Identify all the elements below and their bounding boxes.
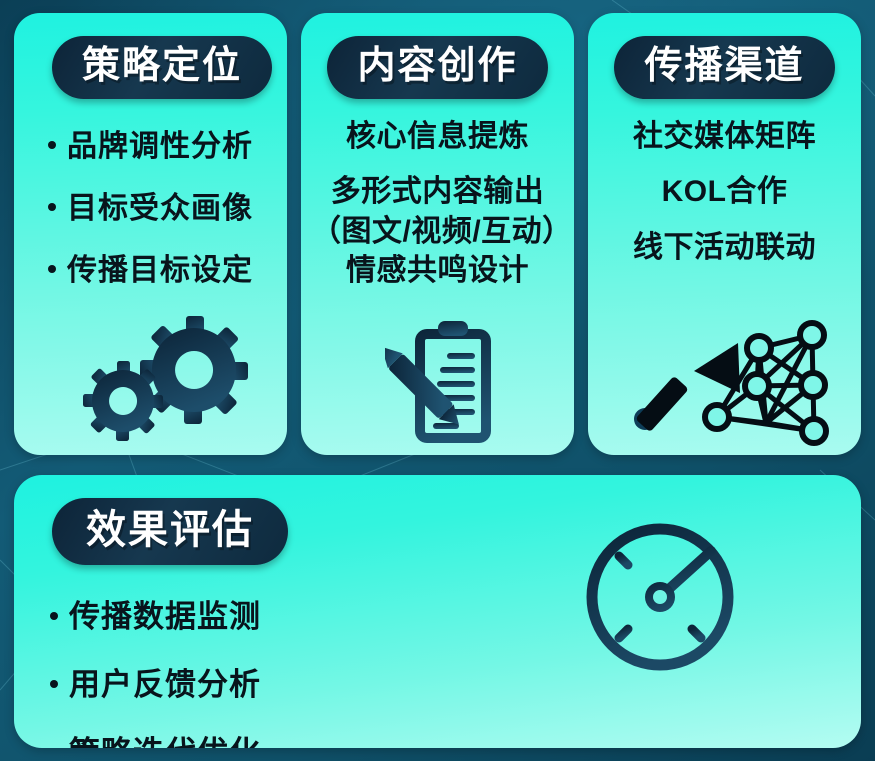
card-title-content-creation: 内容创作	[327, 36, 547, 99]
card-strategy-positioning[interactable]: 策略定位 品牌调性分析 目标受众画像 传播目标设定	[14, 13, 287, 455]
card-title-effect-evaluation: 效果评估	[52, 498, 288, 565]
card-effect-evaluation[interactable]: 效果评估 传播数据监测 用户反馈分析 策略迭代优化	[14, 475, 861, 748]
bullet-list-strategy: 品牌调性分析 目标受众画像 传播目标设定	[14, 121, 287, 289]
bullet-list-evaluation: 传播数据监测 用户反馈分析 策略迭代优化	[14, 591, 861, 748]
list-item-label: 核心信息提炼	[311, 117, 564, 157]
list-item-label: KOL合作	[598, 172, 851, 212]
bullet-dot-icon	[48, 203, 56, 211]
clipboard-pencil-icon	[385, 315, 515, 455]
text-list-distribution: 社交媒体矩阵 KOL合作 线下活动联动	[588, 117, 861, 268]
top-card-row: 策略定位 品牌调性分析 目标受众画像 传播目标设定	[14, 13, 861, 455]
list-item-label: 情感共鸣设计	[311, 251, 564, 291]
text-list-content-creation: 核心信息提炼 多形式内容输出 （图文/视频/互动） 情感共鸣设计	[301, 117, 574, 291]
network-growth-icon	[618, 315, 853, 455]
bullet-dot-icon	[50, 612, 58, 620]
list-item: 品牌调性分析	[48, 121, 287, 165]
card-title-row: 传播渠道	[588, 13, 861, 99]
card-title-row: 效果评估	[14, 475, 861, 565]
card-title-row: 策略定位	[14, 13, 287, 99]
list-item: 传播目标设定	[48, 245, 287, 289]
list-item-label: 社交媒体矩阵	[598, 117, 851, 157]
card-title-row: 内容创作	[301, 13, 574, 99]
bullet-dot-icon	[48, 141, 56, 149]
list-item-label: 线下活动联动	[598, 228, 851, 268]
list-item-label: 目标受众画像	[67, 183, 253, 227]
list-item-label: 传播目标设定	[67, 245, 253, 289]
infographic-canvas: 策略定位 品牌调性分析 目标受众画像 传播目标设定	[0, 0, 875, 761]
card-distribution-channels[interactable]: 传播渠道 社交媒体矩阵 KOL合作 线下活动联动	[588, 13, 861, 455]
card-title-distribution-channels: 传播渠道	[614, 36, 834, 99]
list-item: 策略迭代优化	[50, 727, 861, 748]
list-item-label: 传播数据监测	[69, 591, 261, 636]
card-title-strategy-positioning: 策略定位	[52, 36, 272, 99]
card-content-creation[interactable]: 内容创作 核心信息提炼 多形式内容输出 （图文/视频/互动） 情感共鸣设计	[301, 13, 574, 455]
bullet-dot-icon	[50, 680, 58, 688]
list-item: 传播数据监测	[50, 591, 861, 636]
list-item-label: 用户反馈分析	[69, 659, 261, 704]
list-item-label: （图文/视频/互动）	[311, 212, 564, 252]
list-item: 用户反馈分析	[50, 659, 861, 704]
list-item-label: 策略迭代优化	[69, 727, 261, 748]
gears-icon	[76, 313, 266, 453]
list-item-label: 品牌调性分析	[67, 121, 253, 165]
list-item-label: 多形式内容输出	[311, 172, 564, 212]
list-item: 目标受众画像	[48, 183, 287, 227]
bullet-dot-icon	[48, 265, 56, 273]
